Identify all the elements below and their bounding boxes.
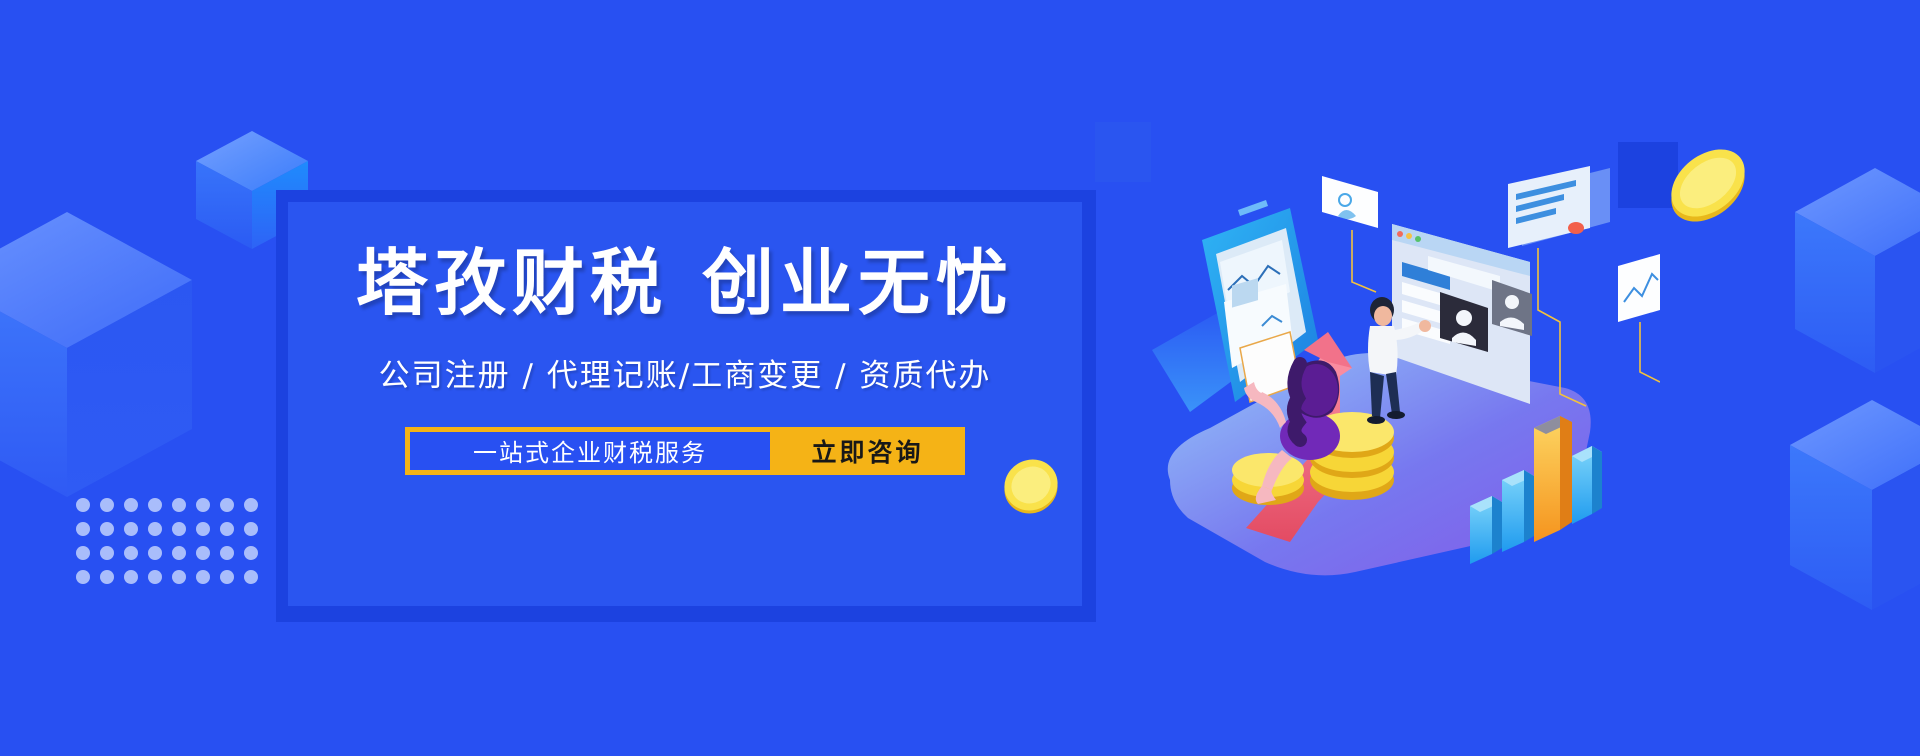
cta-bar: 一站式企业财税服务 立即咨询 <box>405 427 965 475</box>
headline-slogan: 创业无忧 <box>702 241 1014 325</box>
headline-frame: 塔孜财税创业无忧 公司注册 / 代理记账/工商变更 / 资质代办 一站式企业财税… <box>276 190 1096 622</box>
cube-decoration-left <box>0 212 192 497</box>
coin-decoration-right <box>1660 138 1755 228</box>
page-title: 塔孜财税创业无忧 <box>356 246 1014 322</box>
headline-frame-inner: 塔孜财税创业无忧 公司注册 / 代理记账/工商变更 / 资质代办 一站式企业财税… <box>288 202 1082 606</box>
floating-profile-card <box>1322 176 1378 292</box>
service-list-subtitle: 公司注册 / 代理记账/工商变更 / 资质代办 <box>379 350 992 395</box>
consult-now-button[interactable]: 立即咨询 <box>770 427 965 475</box>
hero-illustration <box>1140 150 1660 580</box>
coin-decoration-left <box>1000 455 1062 517</box>
cube-decoration-right-top <box>1795 168 1920 373</box>
cube-decoration-right-bottom <box>1790 400 1920 610</box>
promo-banner: 塔孜财税创业无忧 公司注册 / 代理记账/工商变更 / 资质代办 一站式企业财税… <box>0 0 1920 756</box>
floating-line-chart-card <box>1618 254 1660 382</box>
headline-brand: 塔孜财税 <box>356 241 668 325</box>
dot-grid-decoration <box>76 498 268 594</box>
cta-tag-label: 一站式企业财税服务 <box>410 432 770 470</box>
